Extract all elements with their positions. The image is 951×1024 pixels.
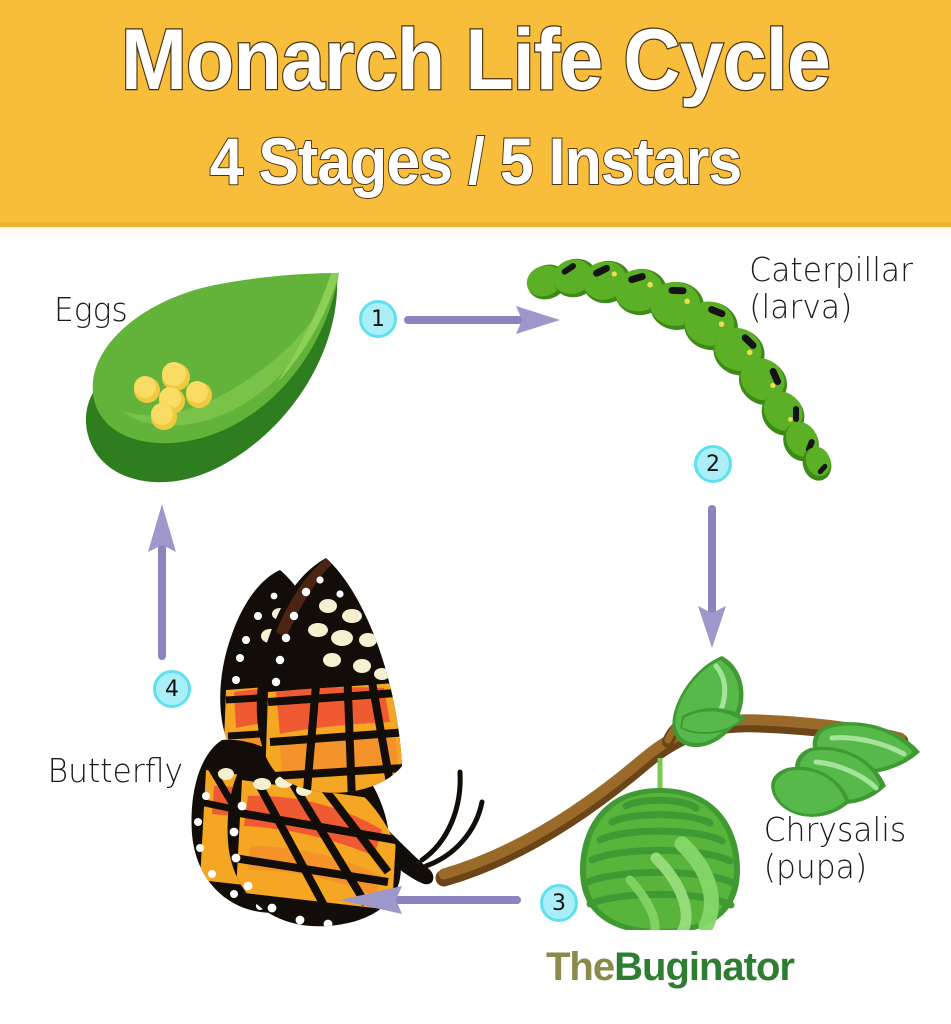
stage-label-caterpillar: Caterpillar(larva) [749, 252, 913, 326]
butterfly-antennae [422, 772, 482, 866]
step-badge-3[interactable]: 3 [540, 884, 578, 922]
transition-arrow-4 [140, 500, 184, 660]
transition-arrow-2 [690, 505, 734, 650]
leaf-blade [93, 273, 339, 443]
caterpillar-label-line1: Caterpillar [749, 250, 913, 289]
stage-label-butterfly: Butterfly [48, 753, 183, 790]
stage-label-eggs: Eggs [54, 292, 128, 329]
logo-the-text: The [546, 945, 614, 989]
step-badge-1[interactable]: 1 [359, 300, 397, 338]
step-badge-4[interactable]: 4 [153, 670, 191, 708]
transition-arrow-1 [404, 300, 564, 340]
chrysalis-label-line2: (pupa) [764, 847, 867, 886]
page-subtitle: 4 Stages / 5 Instars [38, 125, 913, 197]
branch-leaf-lower [771, 722, 920, 817]
stage-label-chrysalis: Chrysalis(pupa) [764, 812, 907, 886]
header-fade [0, 227, 951, 237]
chrysalis-body [580, 788, 740, 930]
step-badge-2[interactable]: 2 [694, 445, 732, 483]
caterpillar-label-line2: (larva) [749, 287, 852, 326]
chrysalis-label-line1: Chrysalis [764, 810, 907, 849]
logo-buginator-text: Buginator [614, 945, 794, 989]
transition-arrow-3 [336, 880, 521, 920]
branch-leaf-upper [672, 656, 746, 747]
page-title: Monarch Life Cycle [38, 14, 913, 106]
brand-logo[interactable]: TheBuginator [546, 945, 794, 990]
infographic-canvas: Monarch Life Cycle 4 Stages / 5 Instars … [0, 0, 951, 1024]
